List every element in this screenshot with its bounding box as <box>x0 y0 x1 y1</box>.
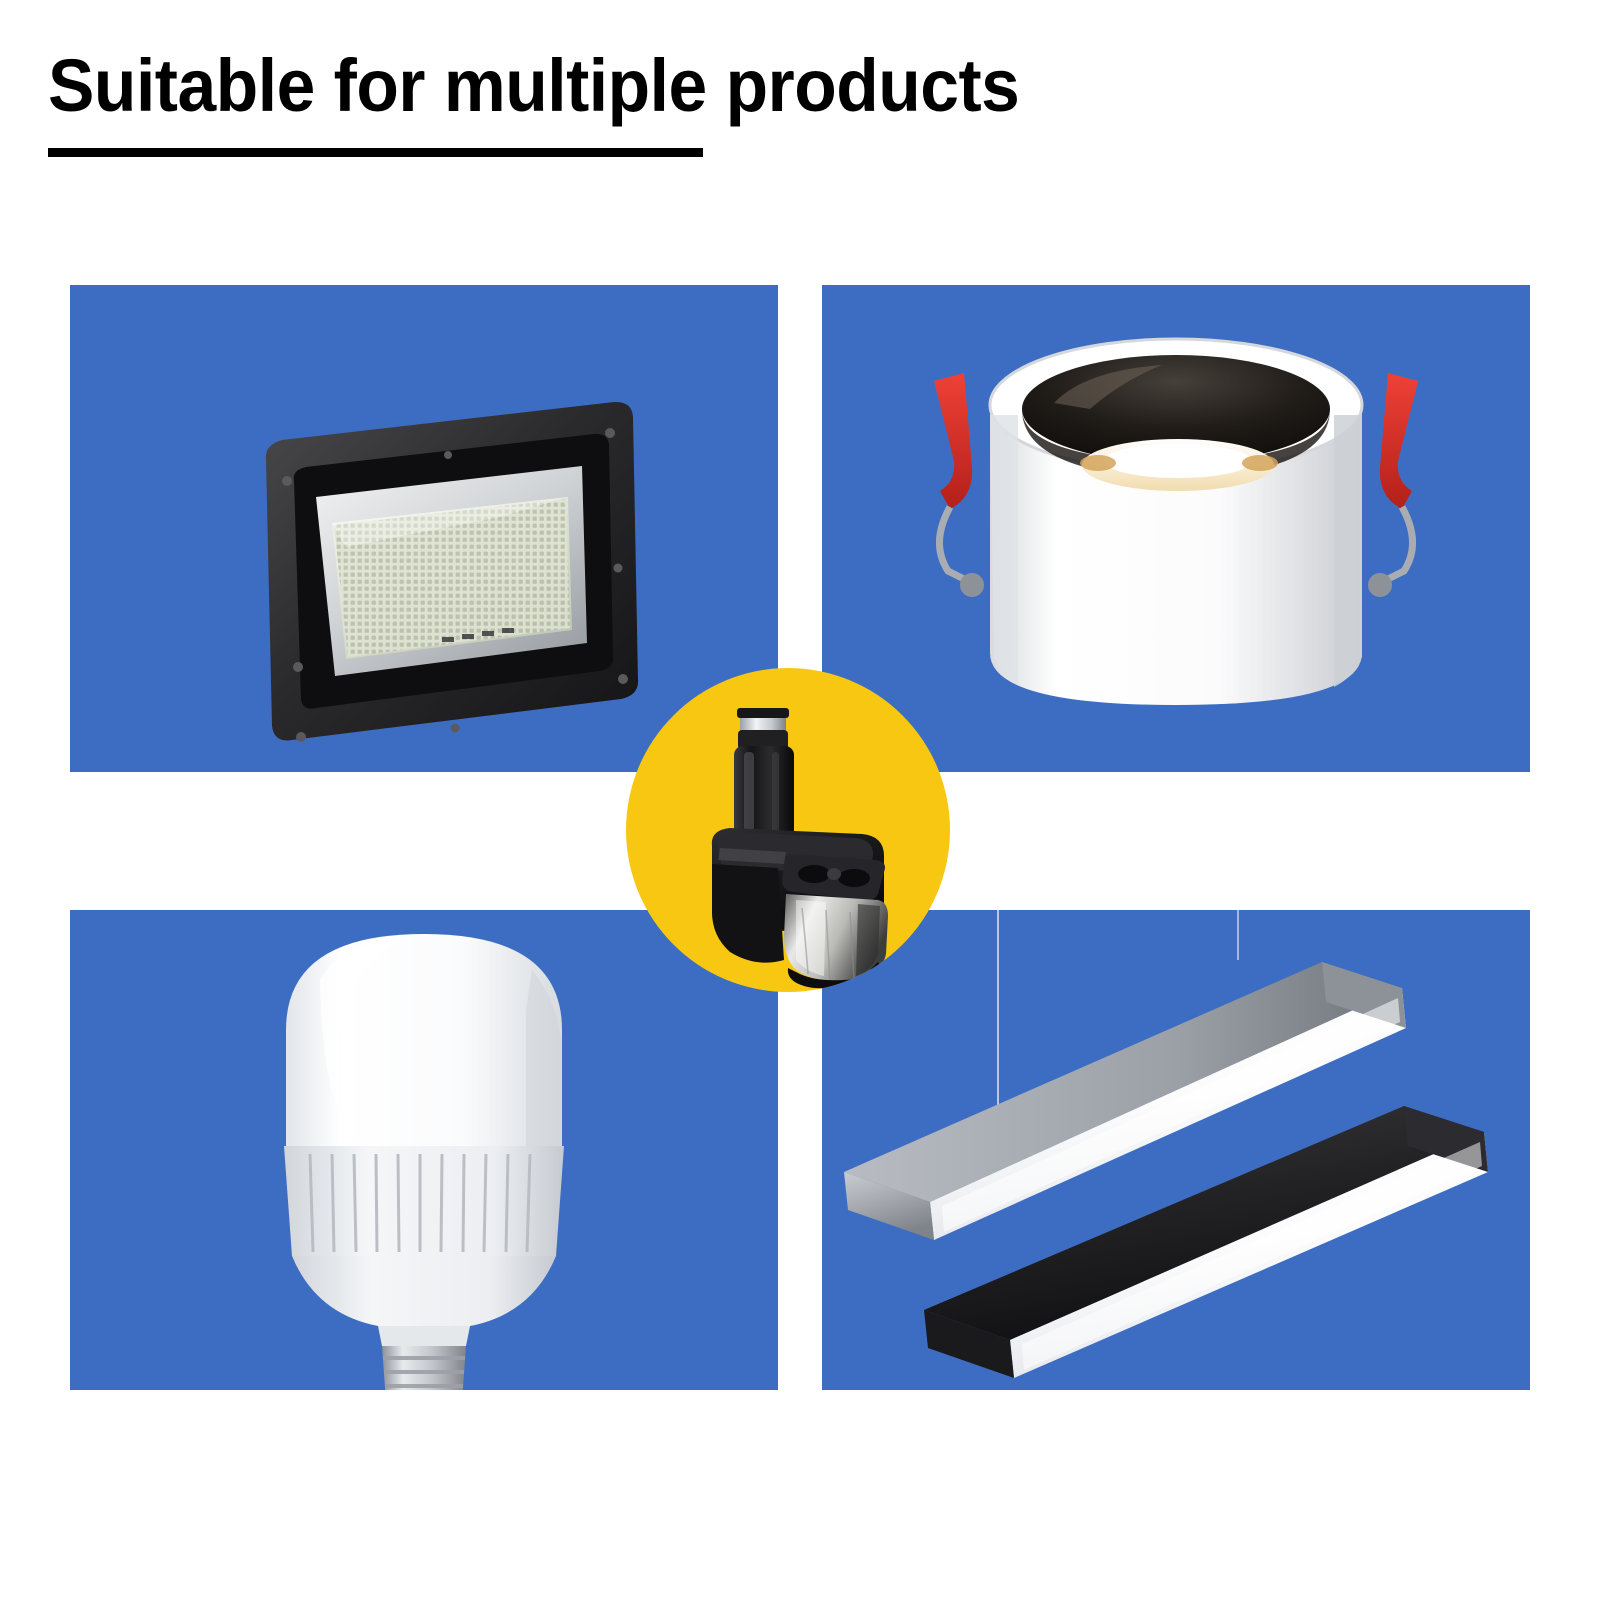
page-title: Suitable for multiple products <box>48 44 1019 128</box>
pir-motion-sensor-icon <box>626 668 950 992</box>
product-compatibility-infographic: Suitable for multiple products <box>0 0 1600 1600</box>
title-underline-rule <box>48 148 703 157</box>
center-sensor-badge[interactable] <box>626 668 950 992</box>
